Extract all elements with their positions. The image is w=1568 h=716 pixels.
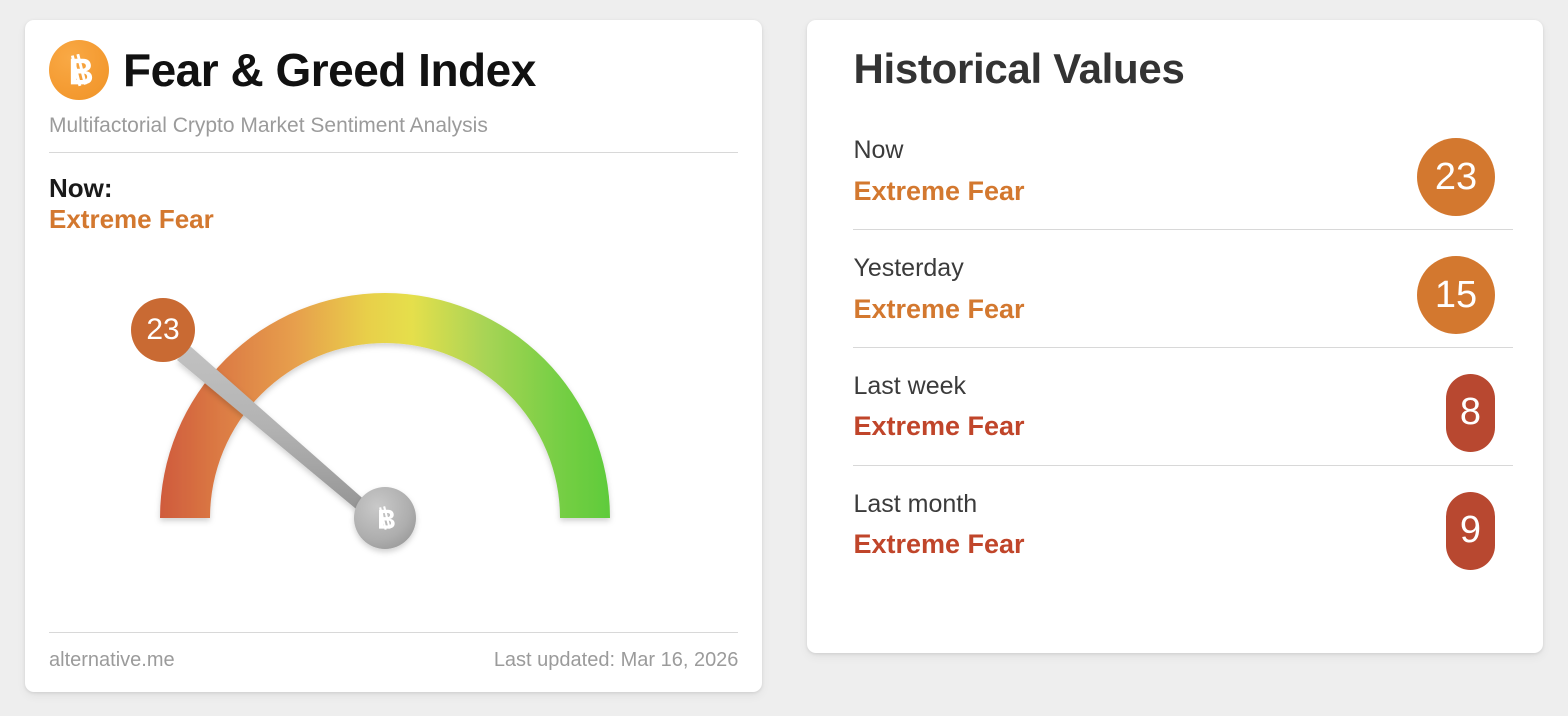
list-item[interactable]: Now Extreme Fear 23	[853, 134, 1513, 230]
header-divider	[49, 152, 738, 153]
status-badge: 9	[1446, 492, 1495, 570]
list-item[interactable]: Last week Extreme Fear 8	[853, 370, 1513, 466]
list-item-period: Now	[853, 134, 1513, 167]
status-badge: 23	[1417, 138, 1495, 216]
source-link[interactable]: alternative.me	[49, 649, 175, 672]
list-item-classification: Extreme Fear	[853, 410, 1513, 442]
last-updated-text: Last updated: Mar 16, 2026	[494, 649, 739, 672]
gauge-card-header: Fear & Greed Index	[49, 40, 738, 100]
fear-greed-gauge-card: Fear & Greed Index Multifactorial Crypto…	[25, 20, 762, 692]
gauge-subtitle: Multifactorial Crypto Market Sentiment A…	[49, 114, 738, 138]
current-reading-label: Now:	[49, 173, 738, 204]
historical-values-list: Now Extreme Fear 23 Yesterday Extreme Fe…	[853, 134, 1513, 583]
status-badge: 15	[1417, 256, 1495, 334]
current-reading-value: Extreme Fear	[49, 204, 738, 235]
list-item-classification: Extreme Fear	[853, 528, 1513, 560]
gauge-chart	[95, 242, 715, 582]
historical-values-title: Historical Values	[853, 46, 1513, 92]
gauge-value-badge: 23	[131, 298, 195, 362]
list-item-period: Last week	[853, 370, 1513, 403]
gauge-card-footer: alternative.me Last updated: Mar 16, 202…	[49, 632, 738, 692]
page-title: Fear & Greed Index	[123, 47, 536, 93]
list-item-classification: Extreme Fear	[853, 293, 1513, 325]
list-item[interactable]: Yesterday Extreme Fear 15	[853, 252, 1513, 348]
status-badge: 8	[1446, 374, 1495, 452]
list-item[interactable]: Last month Extreme Fear 9	[853, 488, 1513, 583]
list-item-classification: Extreme Fear	[853, 175, 1513, 207]
gauge-visual: 23	[49, 236, 738, 632]
current-reading: Now: Extreme Fear	[49, 173, 738, 234]
historical-values-card: Historical Values Now Extreme Fear 23 Ye…	[807, 20, 1543, 653]
list-item-period: Last month	[853, 488, 1513, 521]
bitcoin-icon	[49, 40, 109, 100]
dashboard-layout: Fear & Greed Index Multifactorial Crypto…	[0, 0, 1568, 716]
list-item-period: Yesterday	[853, 252, 1513, 285]
